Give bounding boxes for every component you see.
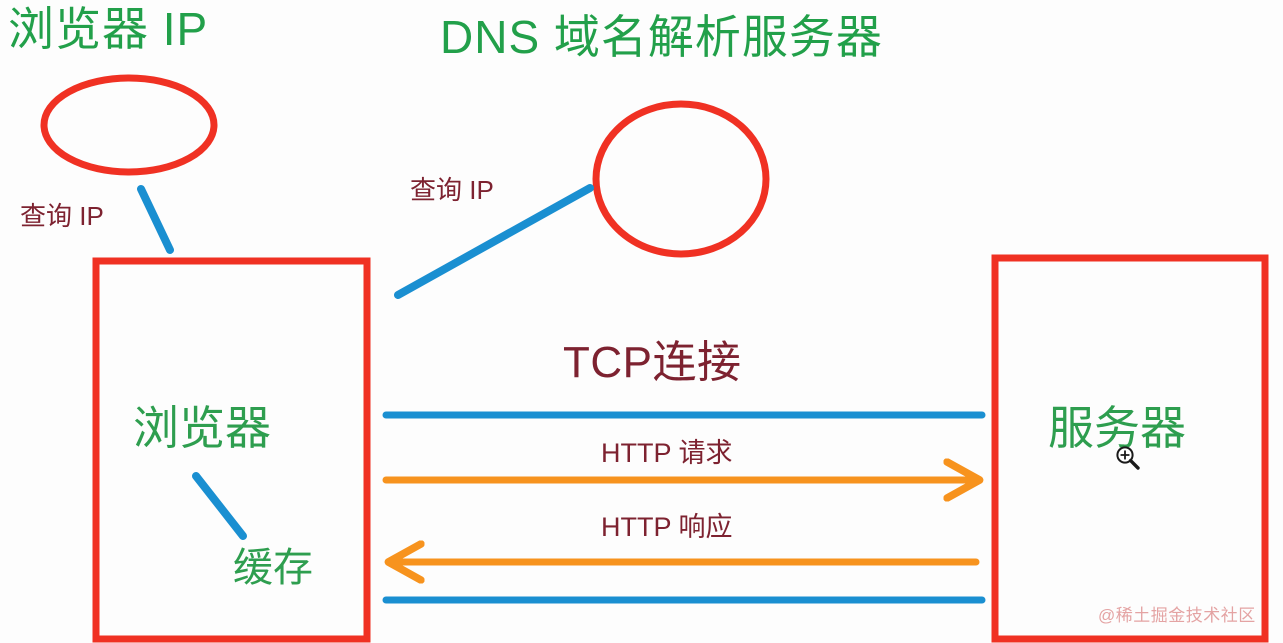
browser-node-label: 浏览器	[133, 405, 271, 451]
http-response-label: HTTP 响应	[601, 514, 733, 541]
browser-ip-ellipse	[44, 78, 214, 172]
query-ip-middle-label: 查询 IP	[410, 177, 494, 203]
cache-connector	[196, 476, 243, 536]
query-ip-left-label: 查询 IP	[20, 203, 104, 229]
query-ip-left-connector	[141, 189, 170, 250]
tcp-connection-label: TCP连接	[563, 341, 742, 385]
http-request-label: HTTP 请求	[601, 440, 733, 467]
dns-server-circle	[596, 104, 766, 254]
dns-server-title: DNS 域名解析服务器	[440, 14, 883, 60]
browser-ip-title: 浏览器 IP	[8, 6, 208, 52]
zoom-in-magnifier-icon	[1114, 444, 1144, 474]
diagram-vector-layer	[0, 0, 1283, 643]
watermark-label: @稀土掘金技术社区	[1098, 607, 1256, 624]
browser-cache-label: 缓存	[233, 548, 313, 588]
diagram-canvas: 浏览器 IP DNS 域名解析服务器 查询 IP 查询 IP 浏览器 缓存 服务…	[0, 0, 1283, 643]
